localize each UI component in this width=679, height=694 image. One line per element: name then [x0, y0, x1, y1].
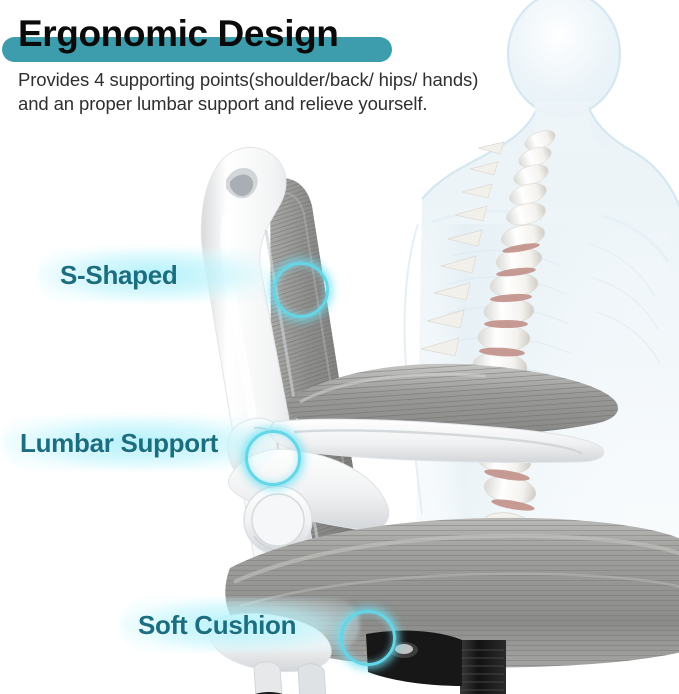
- spine-column: [414, 127, 558, 583]
- callout-lumbar-support: Lumbar Support: [10, 408, 218, 478]
- subtitle-line-2: and an proper lumbar support and relieve…: [18, 92, 618, 116]
- gas-cylinder: [460, 640, 506, 694]
- callout-label: Lumbar Support: [20, 428, 218, 459]
- callout-ring-icon: [273, 262, 329, 318]
- callout-s-shaped: S-Shaped: [48, 240, 178, 310]
- chair-backrest-frame: [201, 147, 322, 612]
- subtitle-line-1: Provides 4 supporting points(shoulder/ba…: [18, 68, 618, 92]
- title-text: Ergonomic Design: [18, 12, 418, 56]
- callout-label: S-Shaped: [60, 260, 178, 291]
- callout-label: Soft Cushion: [138, 610, 296, 641]
- page-subtitle: Provides 4 supporting points(shoulder/ba…: [18, 68, 618, 116]
- product-feature-image: Ergonomic Design Provides 4 supporting p…: [0, 0, 679, 694]
- callout-soft-cushion: Soft Cushion: [128, 590, 296, 660]
- callout-ring-icon: [245, 430, 301, 486]
- page-title: Ergonomic Design: [18, 12, 418, 60]
- chair-backrest: [270, 178, 366, 573]
- callout-ring-icon: [340, 610, 396, 666]
